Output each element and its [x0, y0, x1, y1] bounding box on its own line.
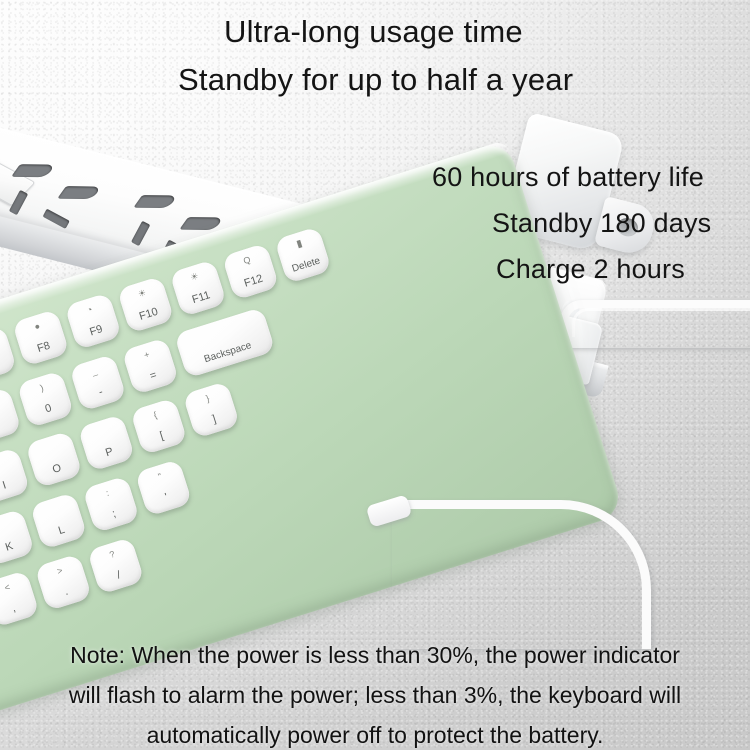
socket-pin-vertical	[131, 221, 150, 246]
key-bracket-left[interactable]: {[	[130, 398, 188, 456]
key-i[interactable]: I	[0, 447, 30, 505]
key-p[interactable]: P	[78, 414, 136, 472]
socket-pin-vertical	[9, 190, 28, 215]
key-comma[interactable]: <,	[0, 570, 40, 628]
spec-battery-life: 60 hours of battery life	[432, 162, 704, 193]
key-0[interactable]: )0	[17, 370, 75, 428]
key-semicolon[interactable]: :;	[82, 475, 140, 533]
key-label-i: I	[0, 473, 28, 498]
socket-slot-right	[57, 186, 101, 199]
spec-standby: Standby 180 days	[492, 208, 711, 239]
note-line-1: Note: When the power is less than 30%, t…	[0, 642, 750, 669]
key-delete[interactable]: ▮Delete	[274, 226, 332, 284]
key-o[interactable]: O	[25, 431, 83, 489]
key-f9[interactable]: ◔F9	[64, 292, 122, 350]
headline-line-1: Ultra-long usage time	[224, 14, 523, 50]
key-l[interactable]: L	[30, 492, 88, 550]
key-9[interactable]: (9	[0, 387, 22, 445]
spec-charge-time: Charge 2 hours	[496, 254, 685, 285]
socket-slot-right	[179, 217, 223, 230]
socket-pin-horizontal	[43, 209, 70, 229]
key-label-9: 9	[0, 413, 20, 438]
key-label-l: L	[38, 518, 85, 543]
socket-slot-left	[11, 164, 55, 177]
key-k[interactable]: K	[0, 509, 35, 567]
key-label-k: K	[0, 534, 33, 559]
key-equal[interactable]: +=	[121, 337, 179, 395]
key-label-o: O	[33, 456, 80, 481]
note-line-2: will flash to alarm the power; less than…	[0, 682, 750, 709]
key-label-f7: F7	[0, 351, 15, 376]
key-period[interactable]: >.	[34, 553, 92, 611]
note-line-3: automatically power off to protect the b…	[0, 722, 750, 749]
socket-slot-left	[133, 195, 177, 208]
headline-line-2: Standby for up to half a year	[178, 62, 573, 98]
key-label-backspace: Backspace	[182, 334, 273, 372]
key-f12[interactable]: QF12	[222, 243, 280, 301]
key-minus[interactable]: _-	[69, 354, 127, 412]
charging-cable-lower	[392, 500, 651, 649]
key-f8[interactable]: ●F8	[12, 309, 70, 367]
key-quote[interactable]: "'	[135, 459, 193, 517]
key-label-p: P	[86, 440, 133, 465]
key-bracket-right[interactable]: }]	[182, 381, 240, 439]
key-f10[interactable]: ☀F10	[117, 276, 175, 334]
key-f11[interactable]: ☀F11	[169, 259, 227, 317]
product-marketing-image: ⏯F5 ◂F6 ▸F7 ●F8 ◔F9 ☀F10 ☀F11 QF12 ▮Dele…	[0, 0, 750, 750]
key-slash[interactable]: ?/	[87, 537, 145, 595]
key-backspace[interactable]: Backspace	[174, 307, 276, 379]
